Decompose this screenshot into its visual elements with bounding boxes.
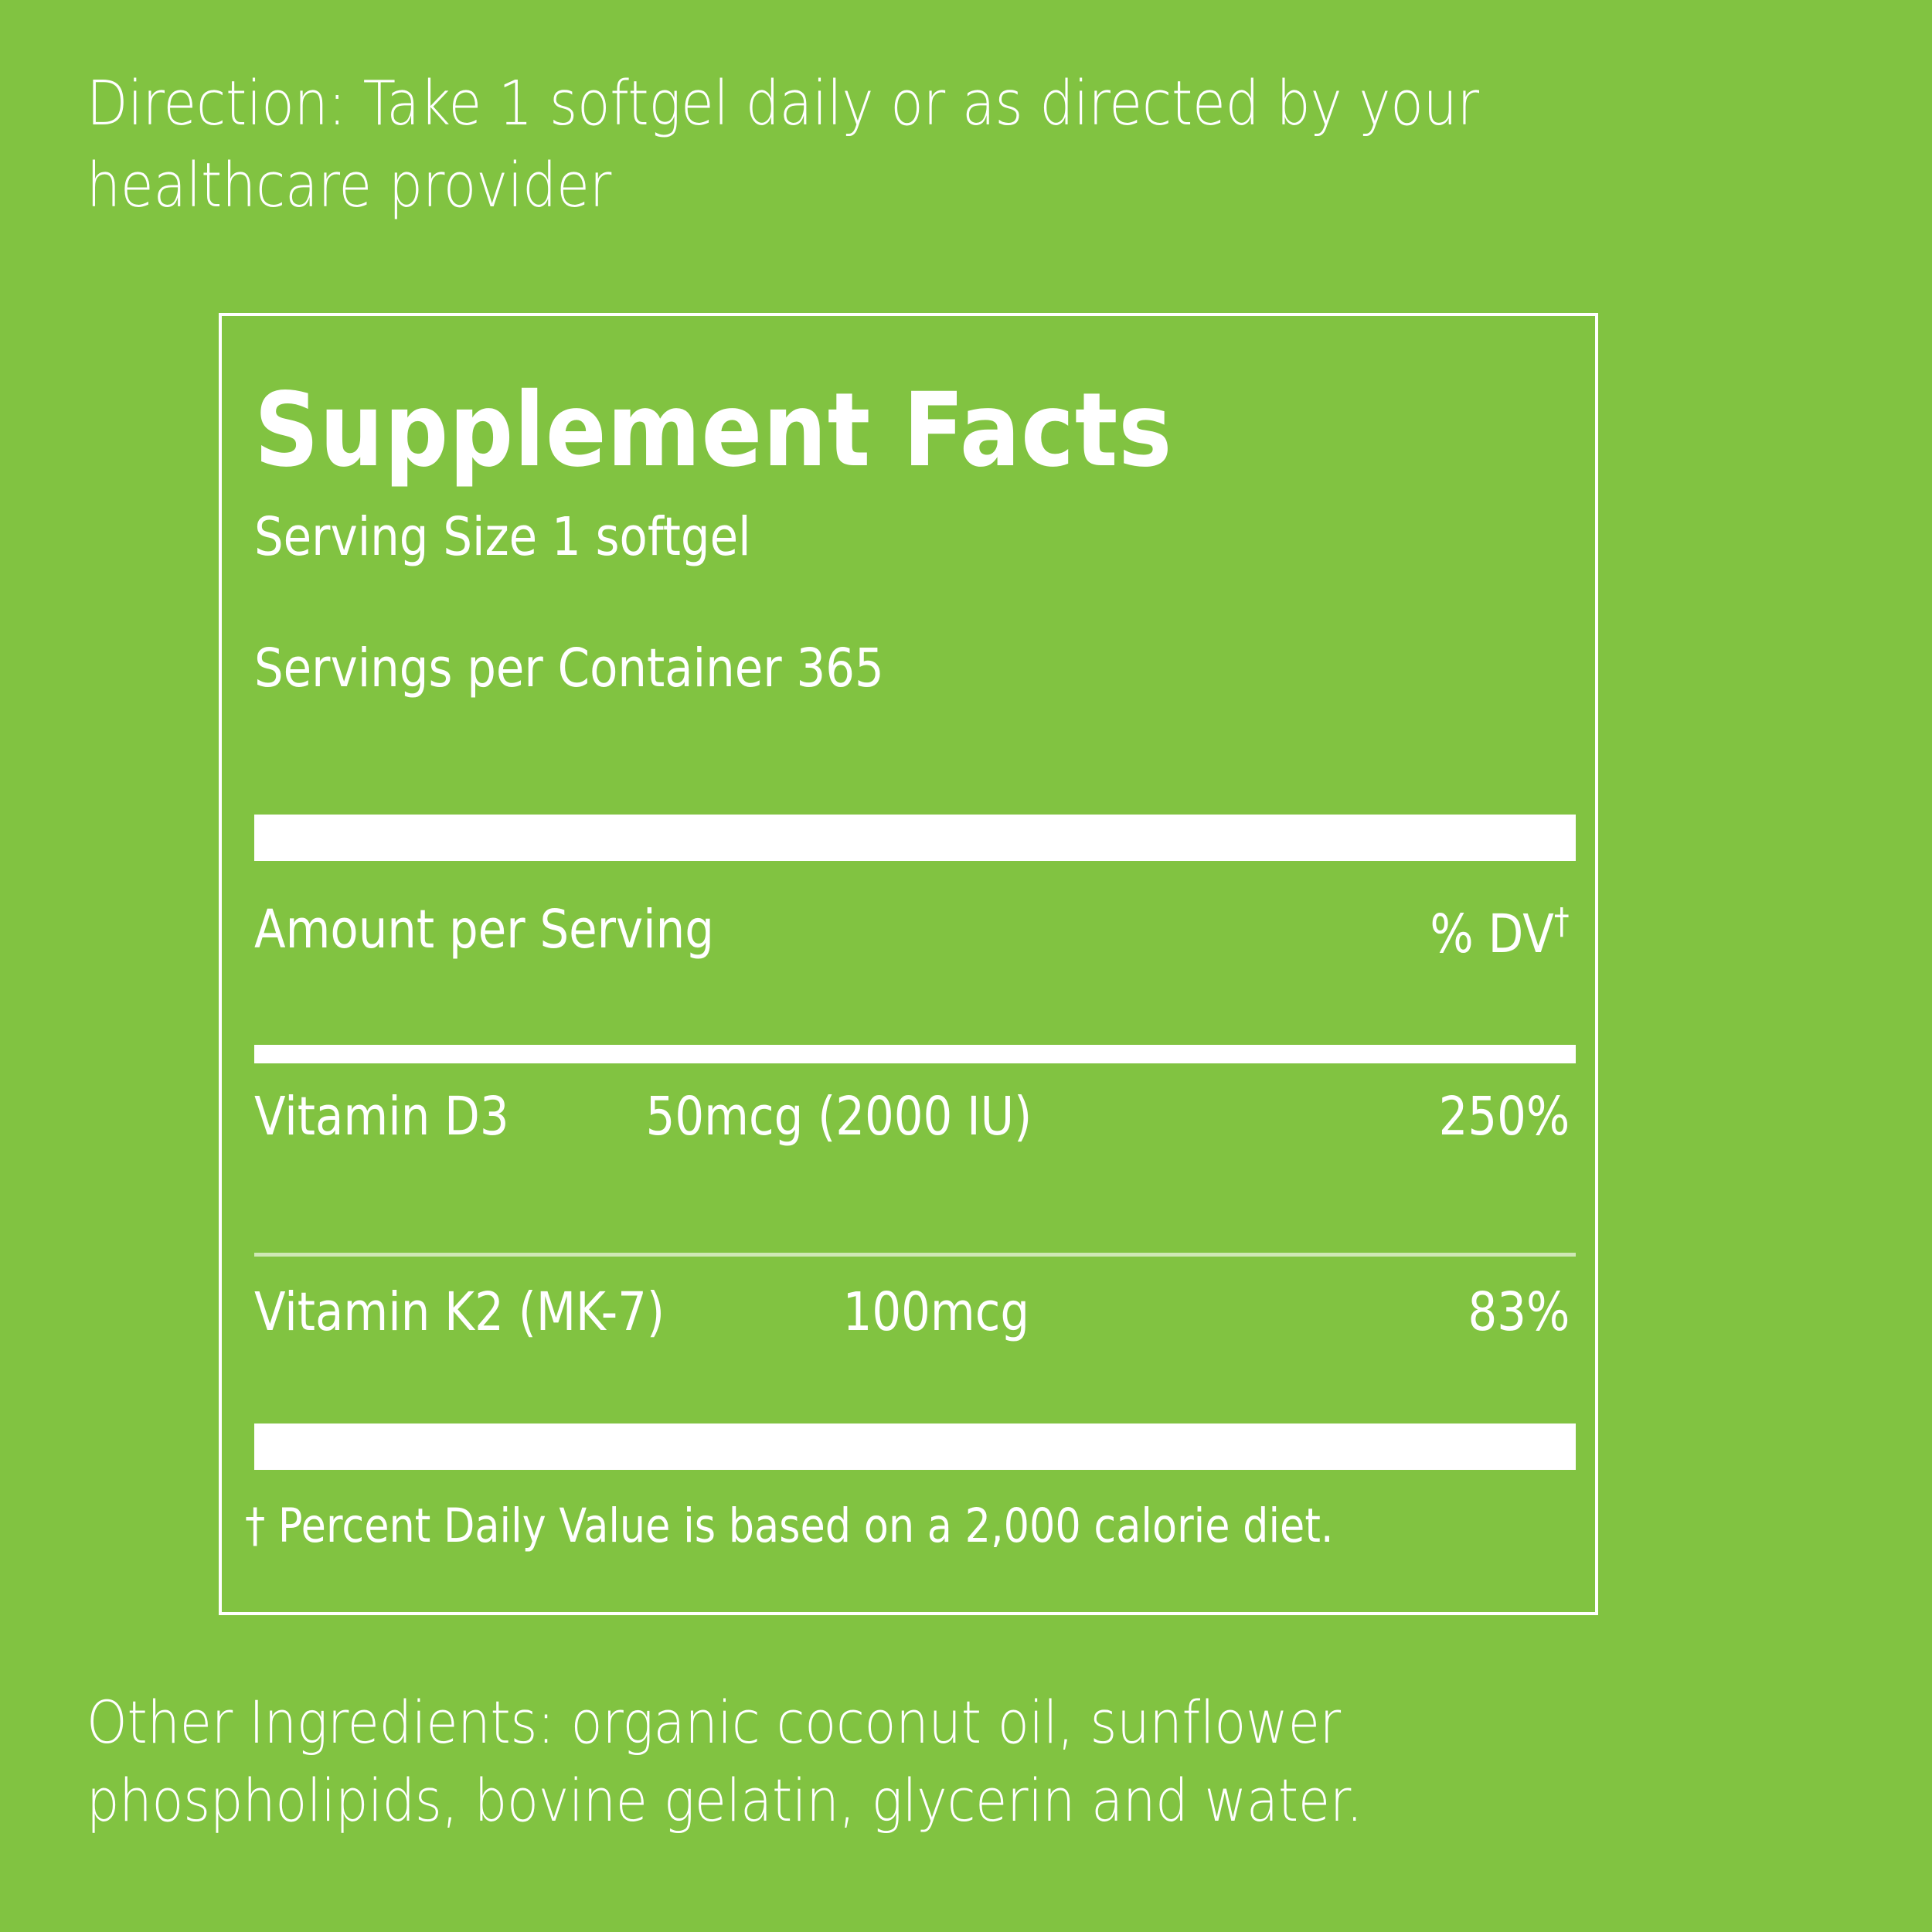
directions-text: Direction: Take 1 softgel daily or as di… [87, 63, 1488, 227]
nutrient-amount: 100mcg [843, 1286, 1029, 1339]
rule-thin-header [254, 1045, 1576, 1063]
daily-value-text: % DV [1430, 903, 1554, 965]
amount-header-row: Amount per Serving % DV† [254, 903, 1570, 968]
rule-hairline-divider [254, 1253, 1576, 1257]
nutrient-daily-value: 250% [1438, 1090, 1570, 1144]
nutrient-daily-value: 83% [1468, 1286, 1570, 1339]
rule-thick-top [254, 815, 1576, 861]
supplement-facts-panel: Supplement Facts Serving Size 1 softgel … [219, 313, 1598, 1615]
daily-value-label: % DV† [1430, 903, 1570, 961]
supplement-facts-title: Supplement Facts [254, 379, 1172, 481]
servings-per-container-text: Servings per Container 365 [254, 642, 884, 696]
rule-thick-bottom [254, 1423, 1576, 1470]
serving-size-text: Serving Size 1 softgel [254, 511, 751, 564]
amount-per-serving-label: Amount per Serving [254, 903, 714, 957]
label-page: Direction: Take 1 softgel daily or as di… [0, 0, 1932, 1932]
dagger-symbol: † [1554, 900, 1570, 942]
daily-value-footnote: † Percent Daily Value is based on a 2,00… [245, 1502, 1334, 1549]
nutrient-amount: 50mcg (2000 IU) [646, 1090, 1032, 1144]
nutrient-name: Vitamin K2 (MK-7) [254, 1286, 665, 1339]
nutrient-name: Vitamin D3 [254, 1090, 509, 1144]
nutrient-row-vitamin-d3: Vitamin D3 50mcg (2000 IU) 250% [254, 1090, 1570, 1157]
nutrient-row-vitamin-k2: Vitamin K2 (MK-7) 100mcg 83% [254, 1286, 1570, 1352]
other-ingredients-text: Other Ingredients: organic coconut oil, … [87, 1683, 1515, 1839]
